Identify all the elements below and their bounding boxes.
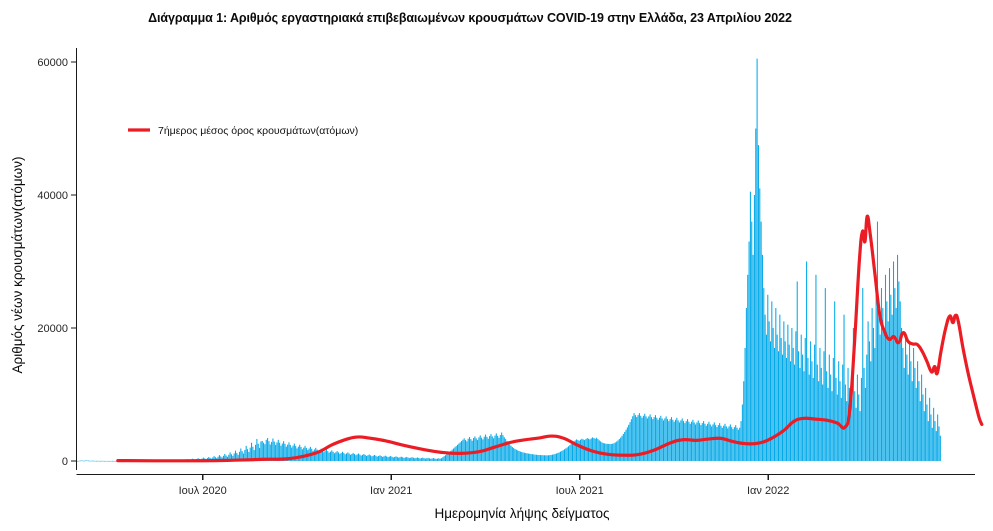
- bar: [894, 288, 895, 461]
- bar: [710, 424, 711, 461]
- bar: [877, 222, 878, 461]
- bar: [856, 408, 857, 461]
- bar: [81, 460, 82, 461]
- bar: [714, 422, 715, 461]
- bar: [655, 415, 656, 461]
- bar: [537, 455, 538, 461]
- bar: [325, 451, 326, 461]
- bar: [398, 458, 399, 461]
- bar: [525, 453, 526, 461]
- bar: [267, 438, 268, 461]
- bar: [466, 441, 467, 461]
- x-tick-labels: Ιουλ 2020Ιαν 2021Ιουλ 2021Ιαν 2022: [179, 485, 790, 497]
- bar: [512, 447, 513, 461]
- bar: [95, 461, 96, 462]
- bar: [115, 461, 116, 462]
- bar: [485, 435, 486, 461]
- bar: [567, 447, 568, 461]
- bar: [841, 398, 842, 461]
- bar: [509, 444, 510, 461]
- bar: [441, 458, 442, 461]
- bar: [865, 388, 866, 461]
- bar: [501, 433, 502, 461]
- bar: [708, 422, 709, 461]
- bar: [936, 431, 937, 461]
- bar: [535, 455, 536, 461]
- bar: [878, 315, 879, 461]
- bar: [349, 454, 350, 461]
- bar: [834, 301, 835, 461]
- bar: [872, 308, 873, 461]
- bar: [786, 358, 787, 461]
- bar: [383, 456, 384, 461]
- bar: [659, 418, 660, 461]
- bar: [84, 461, 85, 462]
- bar: [303, 448, 304, 461]
- bar: [807, 358, 808, 461]
- bar: [335, 452, 336, 461]
- bar: [623, 434, 624, 461]
- bar: [109, 461, 110, 462]
- bar: [810, 341, 811, 461]
- bar: [528, 454, 529, 461]
- bar: [893, 262, 894, 462]
- bar: [593, 438, 594, 461]
- bar: [436, 459, 437, 461]
- bar: [844, 315, 845, 461]
- bar: [500, 435, 501, 461]
- bar: [605, 444, 606, 461]
- bar: [706, 426, 707, 461]
- bar: [889, 268, 890, 461]
- bar: [741, 421, 742, 461]
- bar: [442, 457, 443, 461]
- bar: [912, 381, 913, 461]
- bar: [371, 456, 372, 461]
- bar: [473, 438, 474, 461]
- bar: [811, 361, 812, 461]
- bar: [874, 348, 875, 461]
- bar: [434, 458, 435, 461]
- bar: [520, 452, 521, 461]
- bar: [78, 461, 79, 462]
- bar: [616, 442, 617, 461]
- bar: [790, 361, 791, 461]
- bar: [612, 444, 613, 461]
- bar: [580, 440, 581, 461]
- bar: [412, 457, 413, 461]
- bar: [765, 315, 766, 461]
- bar: [465, 440, 466, 461]
- bar: [821, 368, 822, 461]
- bar: [831, 391, 832, 461]
- bar: [548, 455, 549, 461]
- bar: [783, 321, 784, 461]
- bar: [77, 461, 78, 462]
- bar: [105, 461, 106, 462]
- bar: [671, 417, 672, 461]
- bar: [654, 417, 655, 461]
- bar: [413, 458, 414, 461]
- bar: [563, 450, 564, 461]
- bar: [695, 424, 696, 461]
- bar: [385, 456, 386, 461]
- bar: [700, 425, 701, 461]
- bar: [651, 417, 652, 461]
- bar: [845, 385, 846, 461]
- bar: [532, 454, 533, 461]
- covid-cases-chart: Αριθμός νέων κρουσμάτων(ατόμων) Ημερομην…: [0, 0, 993, 531]
- bar: [113, 461, 114, 462]
- bar: [668, 421, 669, 461]
- bar: [814, 345, 815, 461]
- bar: [346, 453, 347, 461]
- bar: [615, 442, 616, 461]
- bar: [100, 461, 101, 462]
- bar: [648, 416, 649, 461]
- bar: [774, 348, 775, 461]
- bar: [359, 455, 360, 461]
- bar: [569, 445, 570, 461]
- bar: [508, 443, 509, 461]
- bar: [88, 461, 89, 462]
- bar: [667, 419, 668, 461]
- bar: [801, 335, 802, 461]
- bar: [898, 281, 899, 461]
- bar: [806, 262, 807, 462]
- bar: [549, 455, 550, 461]
- bar: [521, 452, 522, 461]
- bar: [928, 421, 929, 461]
- bar: [730, 424, 731, 461]
- bar: [462, 440, 463, 461]
- bar: [414, 458, 415, 461]
- bar: [838, 361, 839, 461]
- bar: [727, 428, 728, 461]
- bar: [733, 429, 734, 461]
- bar: [474, 436, 475, 461]
- bar: [394, 457, 395, 461]
- bar: [82, 461, 83, 462]
- bar: [470, 439, 471, 461]
- bar: [460, 442, 461, 461]
- bar: [361, 456, 362, 461]
- bar: [402, 457, 403, 461]
- bar: [533, 454, 534, 461]
- bar: [829, 355, 830, 461]
- bar: [767, 295, 768, 461]
- y-tick-label: 60000: [37, 57, 68, 69]
- bar: [925, 388, 926, 461]
- bar: [472, 441, 473, 461]
- bar: [373, 456, 374, 461]
- bar: [599, 440, 600, 461]
- bar: [421, 458, 422, 461]
- bar: [493, 438, 494, 461]
- bar: [426, 458, 427, 461]
- bar: [365, 455, 366, 461]
- bar: [345, 454, 346, 461]
- bar: [731, 427, 732, 461]
- bar: [711, 426, 712, 461]
- bar: [613, 443, 614, 461]
- y-tick-label: 20000: [37, 323, 68, 335]
- bar: [929, 398, 930, 461]
- bar: [111, 461, 112, 462]
- bar: [375, 456, 376, 461]
- bar: [873, 328, 874, 461]
- x-tick-label: Ιαν 2022: [747, 485, 789, 497]
- bar: [395, 456, 396, 461]
- bar: [112, 461, 113, 462]
- bar: [825, 288, 826, 461]
- bar: [920, 401, 921, 461]
- bar: [446, 454, 447, 461]
- bar: [544, 455, 545, 461]
- bar: [432, 458, 433, 461]
- bar: [753, 255, 754, 461]
- bar: [738, 430, 739, 461]
- bar: [519, 451, 520, 461]
- bar: [684, 423, 685, 461]
- bar: [822, 385, 823, 461]
- bar: [93, 461, 94, 462]
- bar: [798, 351, 799, 461]
- bar: [932, 428, 933, 461]
- bar: [722, 428, 723, 461]
- bar: [80, 461, 81, 462]
- bar: [97, 461, 98, 462]
- bar: [333, 452, 334, 461]
- bar: [886, 301, 887, 461]
- bar: [754, 195, 755, 461]
- bar: [751, 222, 752, 461]
- bar: [410, 458, 411, 461]
- bar: [937, 414, 938, 461]
- bar: [794, 365, 795, 461]
- bar: [452, 450, 453, 461]
- x-tick-label: Ιουλ 2021: [556, 485, 604, 497]
- bar: [914, 368, 915, 461]
- bar: [377, 457, 378, 461]
- bar: [351, 454, 352, 461]
- bar: [860, 411, 861, 461]
- bar: [833, 358, 834, 461]
- bar: [664, 418, 665, 461]
- bar: [749, 242, 750, 461]
- bar: [87, 460, 88, 461]
- bar: [552, 455, 553, 461]
- bar: [922, 395, 923, 462]
- bar: [354, 454, 355, 461]
- bar: [658, 420, 659, 461]
- bar: [608, 444, 609, 461]
- plot-area: [77, 59, 982, 462]
- bar: [524, 453, 525, 461]
- bar: [572, 443, 573, 461]
- bar: [403, 458, 404, 461]
- y-tick-marks: [71, 62, 76, 461]
- bar: [592, 437, 593, 461]
- bar: [516, 450, 517, 461]
- bar: [464, 438, 465, 461]
- bar: [353, 453, 354, 461]
- chart-figure: Διάγραμμα 1: Αριθμός εργαστηριακά επιβεβ…: [0, 0, 993, 531]
- bar: [564, 449, 565, 461]
- bar: [652, 419, 653, 461]
- bar: [861, 378, 862, 461]
- bar: [362, 455, 363, 461]
- bar: [401, 457, 402, 461]
- bar: [480, 435, 481, 461]
- bar: [543, 455, 544, 461]
- bar: [656, 418, 657, 461]
- bar: [924, 411, 925, 461]
- bar: [747, 275, 748, 461]
- bar: [85, 461, 86, 462]
- bar: [609, 444, 610, 461]
- bar: [596, 438, 597, 461]
- bar: [621, 436, 622, 461]
- bar: [901, 328, 902, 461]
- bar: [497, 436, 498, 461]
- bar: [437, 459, 438, 461]
- bar: [559, 452, 560, 461]
- bar: [897, 255, 898, 461]
- bar: [571, 444, 572, 461]
- bar: [938, 426, 939, 461]
- bar: [670, 419, 671, 461]
- bar: [743, 381, 744, 461]
- bar: [704, 424, 705, 461]
- bar: [579, 441, 580, 461]
- bar: [728, 426, 729, 461]
- bar: [369, 454, 370, 461]
- chart-legend: 7ήμερος μέσος όρος κρουσμάτων(ατόμων): [128, 125, 358, 137]
- bar: [775, 308, 776, 461]
- bar: [334, 453, 335, 461]
- bar: [868, 321, 869, 461]
- bar: [329, 453, 330, 461]
- bar: [818, 381, 819, 461]
- bar: [440, 459, 441, 461]
- bar: [607, 444, 608, 461]
- bar: [341, 453, 342, 461]
- bar: [817, 365, 818, 461]
- x-tick-label: Ιουλ 2020: [179, 485, 227, 497]
- bar: [917, 361, 918, 461]
- bar: [433, 458, 434, 461]
- bar: [422, 458, 423, 461]
- bar: [469, 437, 470, 461]
- bar: [99, 461, 100, 462]
- bar: [746, 308, 747, 461]
- bar: [514, 449, 515, 461]
- bar: [921, 375, 922, 461]
- bar: [724, 424, 725, 461]
- bar: [726, 426, 727, 461]
- bar: [805, 338, 806, 461]
- bar: [430, 459, 431, 461]
- bar: [930, 414, 931, 461]
- bar: [355, 455, 356, 461]
- y-axis-title: Αριθμός νέων κρουσμάτων(ατόμων): [10, 157, 25, 374]
- bar: [940, 436, 941, 461]
- bar: [910, 361, 911, 461]
- bar: [662, 418, 663, 461]
- bar: [343, 453, 344, 461]
- bar: [502, 435, 503, 461]
- bar: [826, 371, 827, 461]
- bar: [540, 455, 541, 461]
- bar: [620, 438, 621, 461]
- bar: [906, 355, 907, 461]
- bar: [409, 458, 410, 461]
- bar: [577, 440, 578, 461]
- bar: [869, 341, 870, 461]
- bar: [390, 456, 391, 461]
- bar: [866, 355, 867, 461]
- bar: [389, 457, 390, 461]
- bar: [702, 423, 703, 461]
- bar: [858, 395, 859, 462]
- bar: [779, 315, 780, 461]
- bar: [750, 192, 751, 461]
- bar: [827, 388, 828, 461]
- y-tick-label: 0: [62, 456, 68, 468]
- bar: [718, 425, 719, 461]
- bar: [716, 427, 717, 461]
- legend-label: 7ήμερος μέσος όρος κρουσμάτων(ατόμων): [158, 125, 358, 137]
- bar: [795, 331, 796, 461]
- bar: [108, 461, 109, 462]
- bar: [513, 448, 514, 461]
- bar: [89, 461, 90, 462]
- bar: [476, 438, 477, 461]
- bar: [416, 458, 417, 461]
- bar: [539, 455, 540, 461]
- bar: [896, 308, 897, 461]
- bar: [418, 458, 419, 461]
- bar: [880, 335, 881, 461]
- bar: [773, 328, 774, 461]
- bar: [663, 420, 664, 461]
- bar: [327, 451, 328, 461]
- bar: [617, 440, 618, 461]
- bar: [785, 341, 786, 461]
- bar: [909, 341, 910, 461]
- bar: [104, 461, 105, 462]
- bar: [846, 401, 847, 461]
- bar: [666, 416, 667, 461]
- bar: [330, 452, 331, 461]
- bar: [339, 454, 340, 461]
- bar: [399, 457, 400, 461]
- bar: [363, 454, 364, 461]
- bar: [737, 428, 738, 461]
- bar: [884, 328, 885, 461]
- bar: [429, 458, 430, 461]
- bar: [885, 275, 886, 461]
- bar: [504, 437, 505, 461]
- bar: [647, 418, 648, 461]
- bar: [908, 375, 909, 461]
- bar: [581, 439, 582, 461]
- bar: [864, 368, 865, 461]
- bar: [557, 453, 558, 461]
- bar: [551, 455, 552, 461]
- bar: [92, 461, 93, 462]
